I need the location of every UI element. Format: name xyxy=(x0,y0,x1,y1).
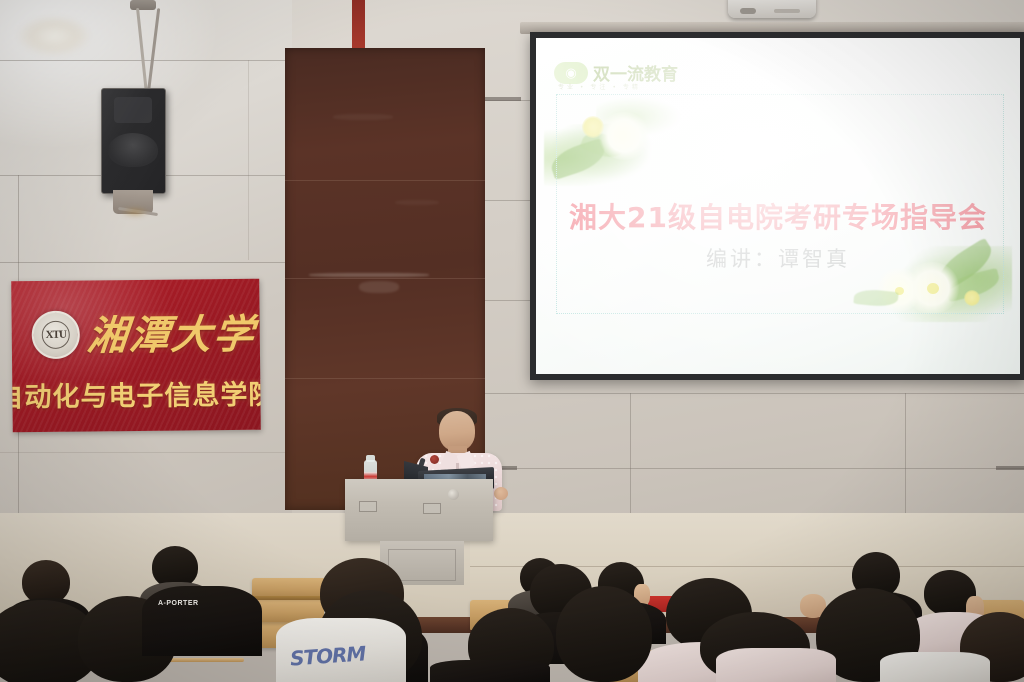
banner-university-name: 湘潭大学 xyxy=(89,301,255,363)
wall-accent xyxy=(996,466,1024,470)
wall-accent xyxy=(485,97,521,101)
wall-seam xyxy=(0,262,292,263)
banner-school-name: 自动化与电子信息学院 xyxy=(18,371,254,415)
wall-seam xyxy=(0,452,292,453)
wall-stain xyxy=(120,206,150,218)
slide-title: 湘大21级自电院考研专场指导会 xyxy=(536,196,1020,236)
projection-screen: ◉ 双一流教育 专业 • 专注 • 专精 湘大21级自电院考研专场指导会 编讲：… xyxy=(530,32,1024,380)
tshirt-print-text: A-PORTER xyxy=(158,600,199,607)
projector-lens xyxy=(740,8,756,14)
presenter-hand xyxy=(494,487,508,500)
red-wall-banner: XTU 湘潭大学 自动化与电子信息学院 xyxy=(11,279,261,433)
slide-surface: ◉ 双一流教育 专业 • 专注 • 专精 湘大21级自电院考研专场指导会 编讲：… xyxy=(536,38,1020,374)
slide-logo-subtext: 专业 • 专注 • 专精 xyxy=(558,82,641,91)
wall-seam xyxy=(248,60,249,260)
ceiling-light-icon xyxy=(18,16,90,56)
wall-seam xyxy=(905,393,906,513)
seal-text: XTU xyxy=(42,321,70,349)
wall-seam xyxy=(485,468,1024,469)
slide-subtitle: 编讲：谭智真 xyxy=(536,243,1020,273)
presenter-head xyxy=(439,411,475,451)
wall-seam xyxy=(485,393,1024,394)
wall-speaker-icon xyxy=(101,88,166,194)
lecture-seat xyxy=(252,578,326,598)
wall-seam xyxy=(630,393,631,513)
cable-conduit xyxy=(130,0,156,10)
red-pipe xyxy=(352,0,365,52)
lectern xyxy=(345,479,493,541)
circle-leaf-logo-icon: ◉ xyxy=(554,62,588,84)
lecture-hall-photo: XTU 湘潭大学 自动化与电子信息学院 xyxy=(0,0,1024,682)
lectern-knob xyxy=(448,489,459,500)
projector-vent xyxy=(774,9,800,13)
projector-icon xyxy=(728,0,816,18)
university-seal-icon: XTU xyxy=(32,311,81,360)
microphone-head xyxy=(430,455,439,464)
